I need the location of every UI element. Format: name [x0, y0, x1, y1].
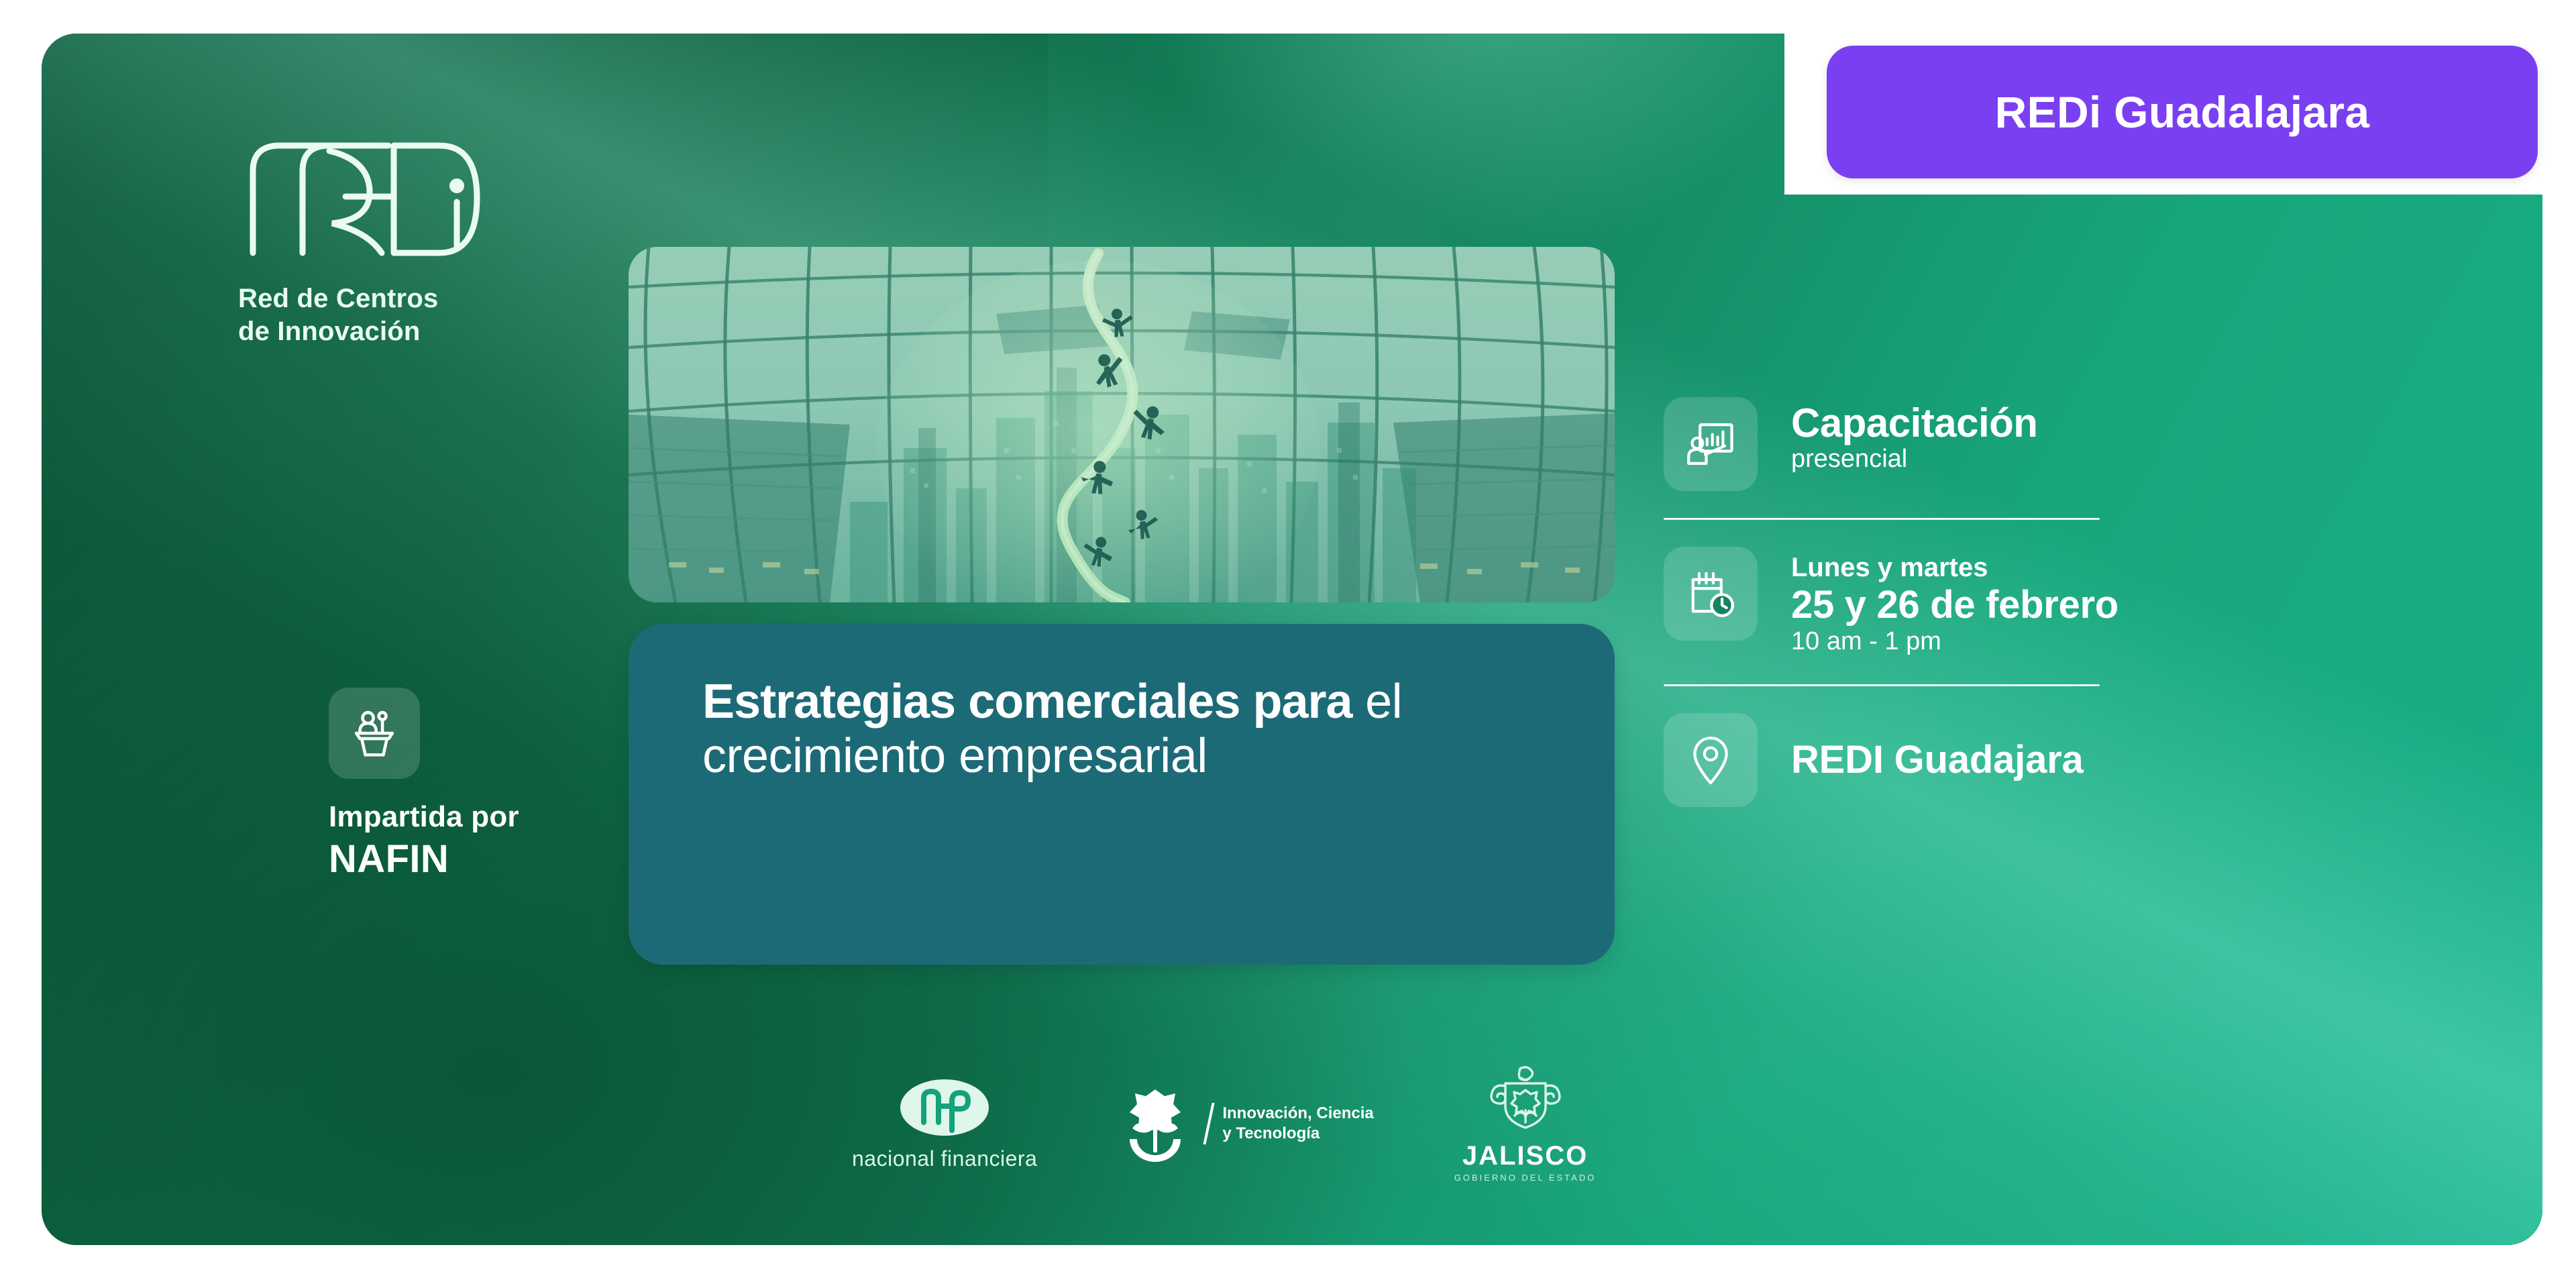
event-details-column: Capacitación presencial Lunes y martes 2… — [1664, 397, 2455, 807]
date-days: Lunes y martes — [1791, 552, 2118, 584]
icyt-line2: y Tecnología — [1222, 1124, 1373, 1144]
location-value: REDI Guadajara — [1791, 713, 2084, 782]
presentation-training-icon — [1664, 397, 1758, 491]
taught-by-org: NAFIN — [329, 837, 519, 881]
hero-image — [629, 247, 1615, 602]
detail-divider-1 — [1664, 518, 2100, 520]
jalisco-coat-of-arms — [1483, 1065, 1568, 1140]
redi-brand-block: Red de Centros de Innovación — [238, 131, 560, 348]
badge-label: REDi Guadalajara — [1995, 87, 2370, 138]
icyt-line1: Innovación, Ciencia — [1222, 1104, 1373, 1124]
partner-logos: nacional financiera Innovación, Ciencia … — [852, 1046, 1751, 1201]
location-pin-icon — [1664, 713, 1758, 807]
modality-subtitle: presencial — [1791, 444, 2037, 475]
modality-title: Capacitación — [1791, 402, 2037, 444]
brand-subtitle: Red de Centros de Innovación — [238, 282, 560, 348]
hero-illustration — [629, 247, 1615, 602]
icyt-flower-emblem — [1118, 1084, 1193, 1163]
nacional-financiera-monogram — [894, 1077, 995, 1142]
jalisco-wordmark: JALISCO — [1462, 1141, 1588, 1171]
redi-guadalajara-badge[interactable]: REDi Guadalajara — [1827, 46, 2538, 178]
brand-subtitle-line1: Red de Centros — [238, 282, 560, 315]
calendar-clock-icon — [1664, 547, 1758, 641]
redi-logo-icon — [238, 131, 520, 265]
detail-modality: Capacitación presencial — [1664, 397, 2455, 491]
detail-divider-2 — [1664, 684, 2100, 686]
brand-subtitle-line2: de Innovación — [238, 315, 560, 348]
logo-jalisco: JALISCO GOBIERNO DEL ESTADO — [1454, 1065, 1597, 1183]
date-time: 10 am - 1 pm — [1791, 627, 2118, 657]
logo-nacional-financiera: nacional financiera — [852, 1077, 1037, 1171]
date-value: 25 y 26 de febrero — [1791, 584, 2118, 627]
podium-speaker-icon — [329, 688, 420, 779]
course-title: Estrategias comerciales para el crecimie… — [702, 675, 1561, 783]
icyt-wordmark: Innovación, Ciencia y Tecnología — [1222, 1104, 1373, 1144]
course-title-card: Estrategias comerciales para el crecimie… — [629, 624, 1615, 965]
jalisco-subtitle: GOBIERNO DEL ESTADO — [1454, 1173, 1597, 1183]
detail-date: Lunes y martes 25 y 26 de febrero 10 am … — [1664, 547, 2455, 657]
taught-by-label: Impartida por — [329, 800, 519, 834]
course-title-bold: Estrategias comerciales para — [702, 675, 1352, 729]
nacional-financiera-wordmark: nacional financiera — [852, 1146, 1037, 1171]
logo-icyt: Innovación, Ciencia y Tecnología — [1118, 1084, 1373, 1163]
detail-location: REDI Guadajara — [1664, 713, 2455, 807]
icyt-divider-slash — [1203, 1103, 1215, 1144]
taught-by-block: Impartida por NAFIN — [329, 688, 519, 881]
